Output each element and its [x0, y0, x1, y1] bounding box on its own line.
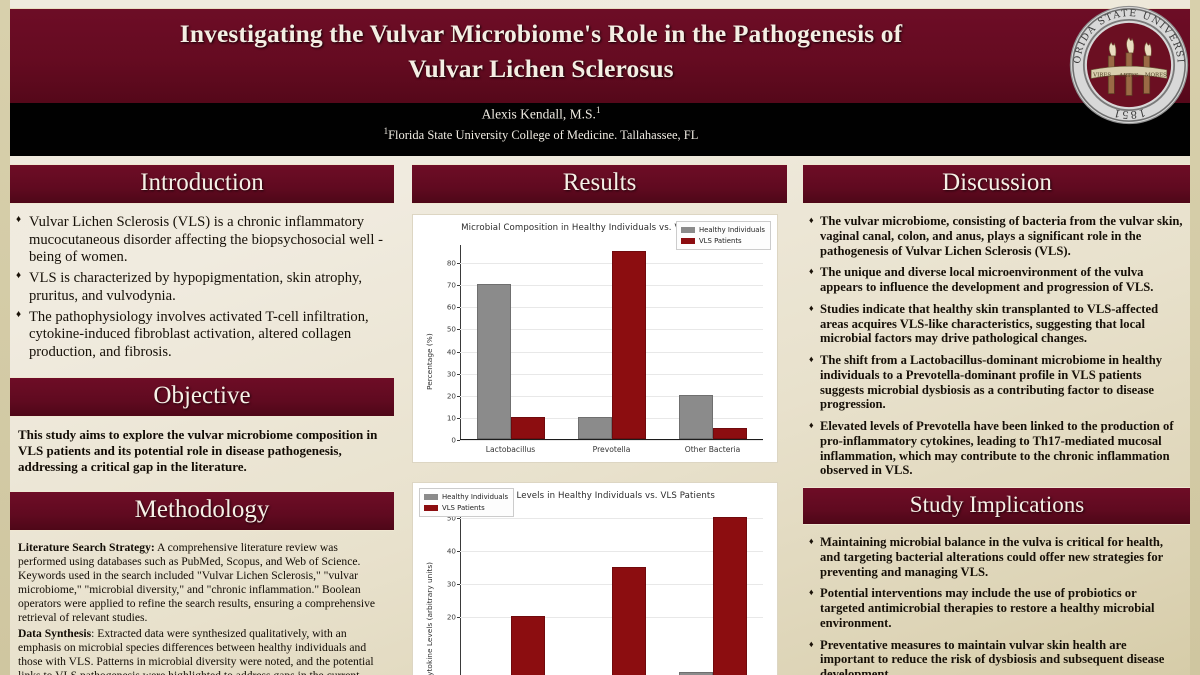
y-axis-tick-mark: [457, 285, 460, 286]
list-item: VLS is characterized by hypopigmentation…: [16, 270, 386, 305]
section-heading-discussion: Discussion: [803, 164, 1191, 204]
y-axis-tick-mark: [457, 374, 460, 375]
left-column: Introduction Vulvar Lichen Sclerosis (VL…: [10, 164, 394, 675]
legend-label-vls: VLS Patients: [699, 236, 742, 246]
methodology-synthesis-label: Data Synthesis: [18, 627, 91, 640]
y-axis-tick-mark: [457, 440, 460, 441]
conference-poster: Investigating the Vulvar Microbiome's Ro…: [0, 0, 1200, 675]
study-implications-bullet-list: Maintaining microbial balance in the vul…: [803, 535, 1191, 675]
bar-vls: [511, 417, 545, 439]
x-axis-tick-label: Other Bacteria: [685, 445, 741, 454]
objective-text: This study aims to explore the vulvar mi…: [10, 427, 394, 474]
y-axis-tick-mark: [457, 551, 460, 552]
middle-column: Results Microbial Composition in Healthy…: [412, 164, 787, 675]
y-axis-tick-label: 60: [447, 303, 456, 312]
author-name: Alexis Kendall, M.S.: [482, 107, 596, 122]
y-axis-tick-mark: [457, 617, 460, 618]
chart2-plot-area: 20304050: [460, 508, 763, 675]
chart1-legend: Healthy Individuals VLS Patients: [676, 221, 771, 250]
section-heading-introduction: Introduction: [10, 164, 394, 204]
y-axis-tick-label: 70: [447, 281, 456, 290]
bar-vls: [713, 517, 747, 675]
legend-entry: VLS Patients: [424, 503, 508, 513]
y-axis-tick-label: 30: [447, 580, 456, 589]
left-margin-strip: [0, 0, 10, 675]
y-axis-tick-mark: [457, 396, 460, 397]
list-item: The vulvar microbiome, consisting of bac…: [809, 214, 1183, 258]
legend-label-healthy: Healthy Individuals: [699, 225, 765, 235]
list-item: Elevated levels of Prevotella have been …: [809, 419, 1183, 478]
chart2-legend: Healthy Individuals VLS Patients: [419, 488, 514, 517]
right-column: Discussion The vulvar microbiome, consis…: [803, 164, 1191, 675]
y-axis-tick-mark: [457, 307, 460, 308]
affiliation-text: Florida State University College of Medi…: [388, 129, 698, 143]
section-heading-results: Results: [412, 164, 787, 204]
section-heading-study-implications: Study Implications: [803, 487, 1191, 525]
chart1-y-axis: [460, 245, 461, 440]
methodology-search-label: Literature Search Strategy:: [18, 541, 155, 554]
chart-panel-cytokine-levels: Cytokine Levels in Healthy Individuals v…: [412, 482, 778, 675]
introduction-bullet-list: Vulvar Lichen Sclerosis (VLS) is a chron…: [10, 214, 394, 361]
list-item: Preventative measures to maintain vulvar…: [809, 638, 1183, 675]
y-axis-tick-mark: [457, 329, 460, 330]
y-axis-tick-label: 40: [447, 547, 456, 556]
legend-swatch-healthy-icon: [424, 494, 438, 500]
list-item: Studies indicate that healthy skin trans…: [809, 302, 1183, 346]
right-margin-strip: [1190, 0, 1200, 675]
y-axis-tick-label: 40: [447, 347, 456, 356]
poster-title: Investigating the Vulvar Microbiome's Ro…: [40, 16, 1042, 86]
y-axis-tick-label: 10: [447, 414, 456, 423]
fsu-seal-icon: FLORIDA STATE UNIVERSITY 1851 VIRES ARTE…: [1068, 4, 1190, 126]
chart2-y-axis-label: Cytokine Levels (arbitrary units): [425, 562, 434, 675]
chart1-plot-area: 01020304050607080LactobacillusPrevotella…: [460, 245, 763, 440]
x-axis-tick-label: Lactobacillus: [486, 445, 535, 454]
chart-panel-microbial-composition: Microbial Composition in Healthy Individ…: [412, 214, 778, 463]
methodology-search-strategy: Literature Search Strategy: A comprehens…: [10, 541, 394, 624]
section-heading-methodology: Methodology: [10, 491, 394, 531]
bar-vls: [511, 616, 545, 675]
y-axis-tick-label: 30: [447, 369, 456, 378]
legend-swatch-vls-icon: [681, 238, 695, 244]
y-axis-tick-label: 20: [447, 613, 456, 622]
list-item: Vulvar Lichen Sclerosis (VLS) is a chron…: [16, 214, 386, 266]
discussion-bullet-list: The vulvar microbiome, consisting of bac…: [803, 214, 1191, 478]
bar-vls: [713, 428, 747, 439]
y-axis-tick-label: 80: [447, 258, 456, 267]
legend-entry: Healthy Individuals: [424, 492, 508, 502]
poster-title-line-2: Vulvar Lichen Sclerosus: [40, 51, 1042, 86]
author-line: Alexis Kendall, M.S.1: [40, 104, 1042, 125]
list-item: The shift from a Lactobacillus-dominant …: [809, 353, 1183, 412]
svg-text:MORES: MORES: [1145, 73, 1167, 79]
y-axis-tick-mark: [457, 418, 460, 419]
poster-header: Investigating the Vulvar Microbiome's Ro…: [10, 8, 1192, 156]
svg-text:ARTES: ARTES: [1118, 73, 1139, 79]
affiliation-line: 1Florida State University College of Med…: [40, 125, 1042, 146]
y-axis-tick-mark: [457, 352, 460, 353]
author-superscript: 1: [596, 105, 601, 115]
list-item: The unique and diverse local microenviro…: [809, 265, 1183, 294]
bar-vls: [612, 251, 646, 439]
chart1-y-axis-label: Percentage (%): [425, 334, 434, 391]
list-item: The pathophysiology involves activated T…: [16, 309, 386, 361]
legend-label-vls: VLS Patients: [442, 503, 485, 513]
y-axis-tick-mark: [457, 584, 460, 585]
section-heading-objective: Objective: [10, 377, 394, 417]
bar-healthy: [578, 417, 612, 439]
y-axis-tick-label: 20: [447, 391, 456, 400]
legend-entry: VLS Patients: [681, 236, 765, 246]
methodology-data-synthesis: Data Synthesis: Extracted data were synt…: [10, 627, 394, 675]
y-axis-tick-mark: [457, 518, 460, 519]
chart2-y-axis: [460, 508, 461, 675]
bar-healthy: [477, 284, 511, 439]
svg-text:VIRES: VIRES: [1092, 73, 1111, 79]
legend-swatch-healthy-icon: [681, 227, 695, 233]
x-axis-tick-label: Prevotella: [593, 445, 631, 454]
bar-vls: [612, 567, 646, 675]
poster-byline: Alexis Kendall, M.S.1 1Florida State Uni…: [40, 104, 1042, 146]
legend-label-healthy: Healthy Individuals: [442, 492, 508, 502]
poster-title-line-1: Investigating the Vulvar Microbiome's Ro…: [40, 16, 1042, 51]
bar-healthy: [679, 395, 713, 439]
list-item: Maintaining microbial balance in the vul…: [809, 535, 1183, 579]
legend-entry: Healthy Individuals: [681, 225, 765, 235]
legend-swatch-vls-icon: [424, 505, 438, 511]
gridline: [460, 440, 763, 441]
y-axis-tick-mark: [457, 263, 460, 264]
list-item: Potential interventions may include the …: [809, 586, 1183, 630]
y-axis-tick-label: 0: [451, 436, 456, 445]
y-axis-tick-label: 50: [447, 325, 456, 334]
